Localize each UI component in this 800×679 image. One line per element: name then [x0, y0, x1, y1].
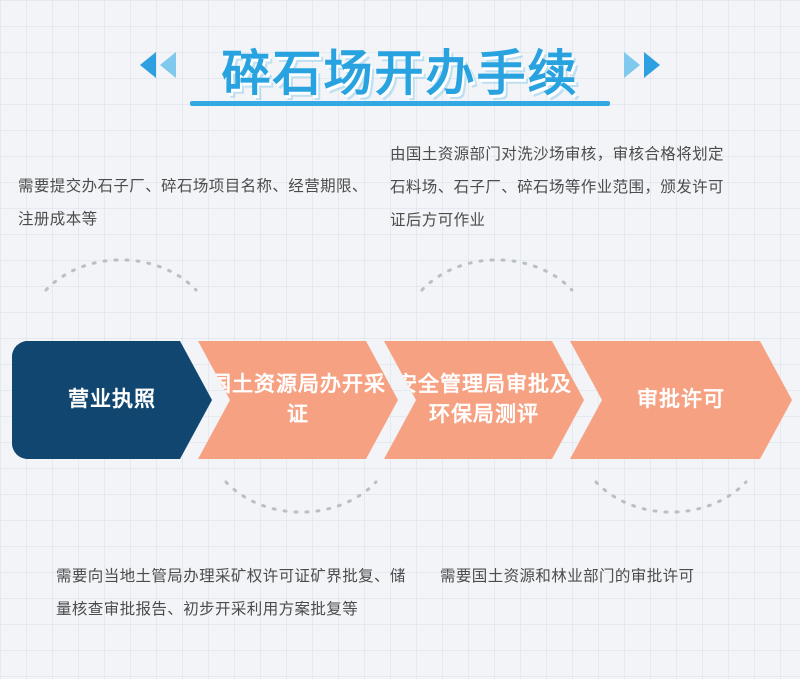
step-1-label: 营业执照: [58, 385, 166, 415]
process-flow: 营业执照 国土资源局办开采证 安全管理局审批及环保局测评 审批许可: [12, 341, 792, 459]
description-bottom-left: 需要向当地土管局办理采矿权许可证矿界批复、储量核查审批报告、初步开采利用方案批复…: [56, 560, 406, 626]
step-4-label: 审批许可: [627, 385, 735, 415]
step-4-approval[interactable]: 审批许可: [570, 341, 792, 459]
description-bottom-right: 需要国土资源和林业部门的审批许可: [440, 560, 770, 593]
title-underline: [190, 101, 610, 106]
title-area: 碎石场开办手续: [0, 18, 800, 108]
step-3-safety-environment[interactable]: 安全管理局审批及环保局测评: [384, 341, 584, 459]
step-1-business-license[interactable]: 营业执照: [12, 341, 212, 459]
step-2-label: 国土资源局办开采证: [198, 370, 398, 430]
infographic-canvas: 碎石场开办手续 01 02 03 04 营业执照 国土资源局办开采证 安全管理局…: [0, 0, 800, 679]
step-2-mining-permit[interactable]: 国土资源局办开采证: [198, 341, 398, 459]
description-top-left: 需要提交办石子厂、碎石场项目名称、经营期限、注册成本等: [18, 170, 368, 236]
step-3-label: 安全管理局审批及环保局测评: [384, 370, 584, 430]
page-title: 碎石场开办手续: [0, 34, 800, 105]
description-top-right: 由国土资源部门对洗沙场审核，审核合格将划定石料场、石子厂、碎石场等作业范围，颁发…: [390, 138, 738, 237]
